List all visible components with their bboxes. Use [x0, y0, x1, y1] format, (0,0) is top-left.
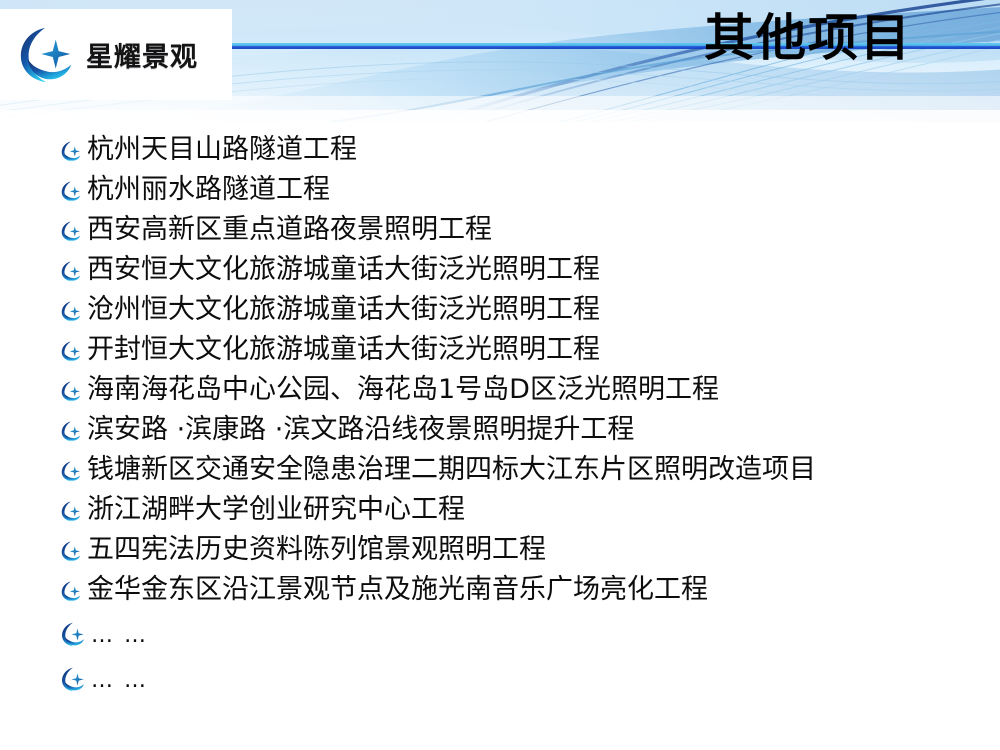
list-item: 西安高新区重点道路夜景照明工程	[60, 210, 816, 250]
crescent-star-bullet-icon	[60, 180, 82, 202]
list-item: 沧州恒大文化旅游城童话大街泛光照明工程	[60, 290, 816, 330]
list-item-label: … …	[91, 666, 148, 696]
list-item-label: 沧州恒大文化旅游城童话大街泛光照明工程	[87, 295, 600, 325]
list-item: 滨安路 ·滨康路 ·滨文路沿线夜景照明提升工程	[60, 410, 816, 450]
list-item-label: 杭州天目山路隧道工程	[87, 135, 357, 165]
list-item: 海南海花岛中心公园、海花岛1号岛D区泛光照明工程	[60, 370, 816, 410]
list-item: 浙江湖畔大学创业研究中心工程	[60, 490, 816, 530]
presentation-slide: 星耀景观 其他项目 杭州天目山路隧	[0, 0, 1000, 750]
list-item: … …	[60, 610, 816, 655]
crescent-star-logo-icon	[16, 24, 78, 86]
crescent-star-bullet-icon	[60, 460, 82, 482]
crescent-star-bullet-icon	[60, 300, 82, 322]
list-item-label: 金华金东区沿江景观节点及施光南音乐广场亮化工程	[87, 575, 708, 605]
list-item: 杭州丽水路隧道工程	[60, 170, 816, 210]
list-item-label: 杭州丽水路隧道工程	[87, 175, 330, 205]
crescent-star-bullet-icon	[60, 580, 82, 602]
list-item-label: 钱塘新区交通安全隐患治理二期四标大江东片区照明改造项目	[87, 455, 816, 485]
crescent-star-bullet-icon	[60, 340, 82, 362]
crescent-star-bullet-icon	[60, 260, 82, 282]
list-item-label: 西安恒大文化旅游城童话大街泛光照明工程	[87, 255, 600, 285]
crescent-star-bullet-icon	[60, 140, 82, 162]
crescent-star-bullet-icon	[60, 621, 86, 647]
list-item-label: 浙江湖畔大学创业研究中心工程	[87, 495, 465, 525]
crescent-star-bullet-icon	[60, 500, 82, 522]
list-item: 五四宪法历史资料陈列馆景观照明工程	[60, 530, 816, 570]
crescent-star-bullet-icon	[60, 666, 86, 692]
crescent-star-bullet-icon	[60, 420, 82, 442]
slide-body: 杭州天目山路隧道工程 杭州丽水路隧道工程	[0, 122, 1000, 750]
crescent-star-bullet-icon	[60, 220, 82, 242]
list-item-label: … …	[91, 621, 148, 651]
list-item: 杭州天目山路隧道工程	[60, 130, 816, 170]
list-item-label: 五四宪法历史资料陈列馆景观照明工程	[87, 535, 546, 565]
list-item: 西安恒大文化旅游城童话大街泛光照明工程	[60, 250, 816, 290]
list-item-label: 开封恒大文化旅游城童话大街泛光照明工程	[87, 335, 600, 365]
page-title: 其他项目	[704, 13, 912, 63]
list-item-label: 海南海花岛中心公园、海花岛1号岛D区泛光照明工程	[87, 375, 719, 405]
brand-name: 星耀景观	[86, 35, 198, 74]
list-item-label: 西安高新区重点道路夜景照明工程	[87, 215, 492, 245]
project-list: 杭州天目山路隧道工程 杭州丽水路隧道工程	[60, 130, 816, 700]
list-item: 金华金东区沿江景观节点及施光南音乐广场亮化工程	[60, 570, 816, 610]
company-logo: 星耀景观	[0, 9, 232, 100]
list-item: 开封恒大文化旅游城童话大街泛光照明工程	[60, 330, 816, 370]
crescent-star-bullet-icon	[60, 380, 82, 402]
list-item: 钱塘新区交通安全隐患治理二期四标大江东片区照明改造项目	[60, 450, 816, 490]
crescent-star-bullet-icon	[60, 540, 82, 562]
slide-header: 星耀景观 其他项目	[0, 0, 1000, 122]
list-item-label: 滨安路 ·滨康路 ·滨文路沿线夜景照明提升工程	[87, 415, 634, 445]
list-item: … …	[60, 655, 816, 700]
